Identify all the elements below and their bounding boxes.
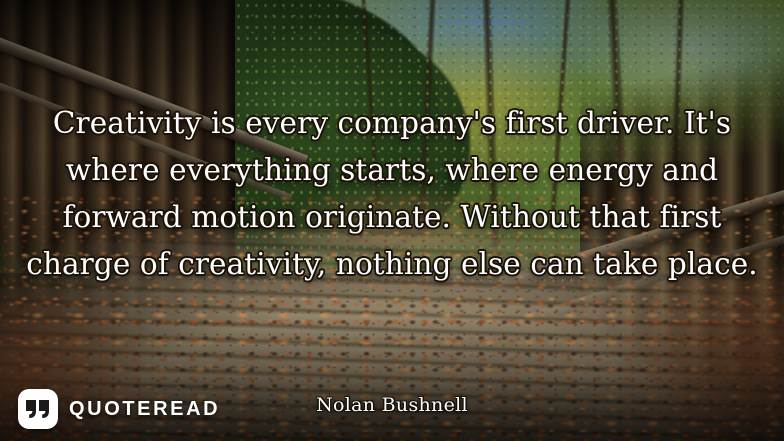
card-footer: Nolan Bushnell QUOTEREAD (0, 380, 784, 441)
quote-card: Creativity is every company's first driv… (0, 0, 784, 441)
brand-name: QUOTEREAD (69, 398, 220, 421)
quote-text: Creativity is every company's first driv… (0, 100, 784, 288)
quote-mark-icon (18, 389, 58, 429)
brand-logo[interactable]: QUOTEREAD (18, 389, 220, 429)
